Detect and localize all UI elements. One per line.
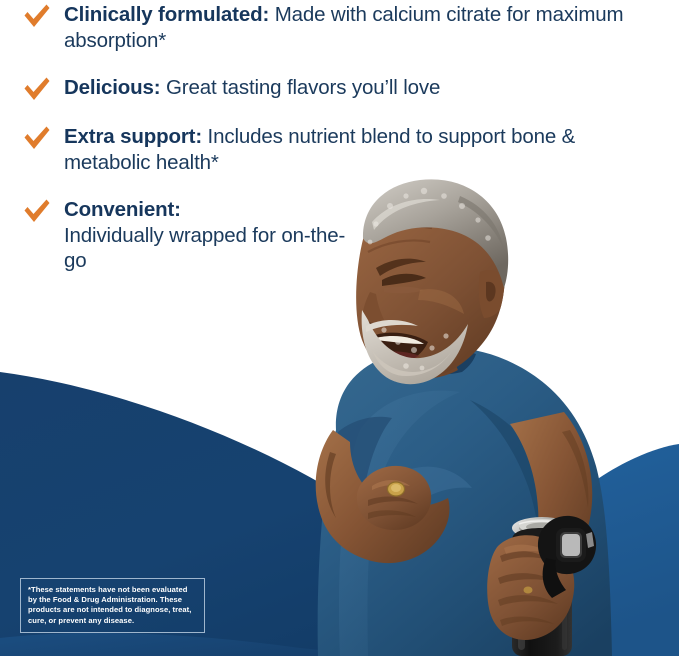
disclaimer-text: *These statements have not been evaluate… [28,585,197,626]
benefit-item-extra-support: Extra support: Includes nutrient blend t… [0,124,640,175]
check-icon [22,3,52,29]
check-icon [22,76,52,102]
benefit-body: Great tasting flavors you’ll love [160,76,440,99]
product-benefits-banner: Clinically formulated: Made with calcium… [0,0,679,656]
benefit-title: Convenient: [64,198,181,221]
benefit-title: Extra support: [64,125,202,148]
check-icon [22,198,52,224]
benefit-item-convenient: Convenient:Individually wrapped for on-t… [0,197,640,274]
benefit-text: Delicious: Great tasting flavors you’ll … [64,75,440,101]
disclaimer-box: *These statements have not been evaluate… [20,578,205,633]
benefits-list: Clinically formulated: Made with calcium… [0,0,640,296]
benefit-text: Extra support: Includes nutrient blend t… [64,124,629,175]
benefit-text: Clinically formulated: Made with calcium… [64,2,629,53]
wave-blue-right [492,444,679,656]
benefit-item-delicious: Delicious: Great tasting flavors you’ll … [0,75,640,102]
benefit-title: Clinically formulated: [64,3,269,26]
check-icon [22,125,52,151]
benefit-item-clinically-formulated: Clinically formulated: Made with calcium… [0,2,640,53]
benefit-text: Convenient:Individually wrapped for on-t… [64,197,364,274]
benefit-body: Individually wrapped for on-the-go [64,224,345,273]
benefit-title: Delicious: [64,76,160,99]
